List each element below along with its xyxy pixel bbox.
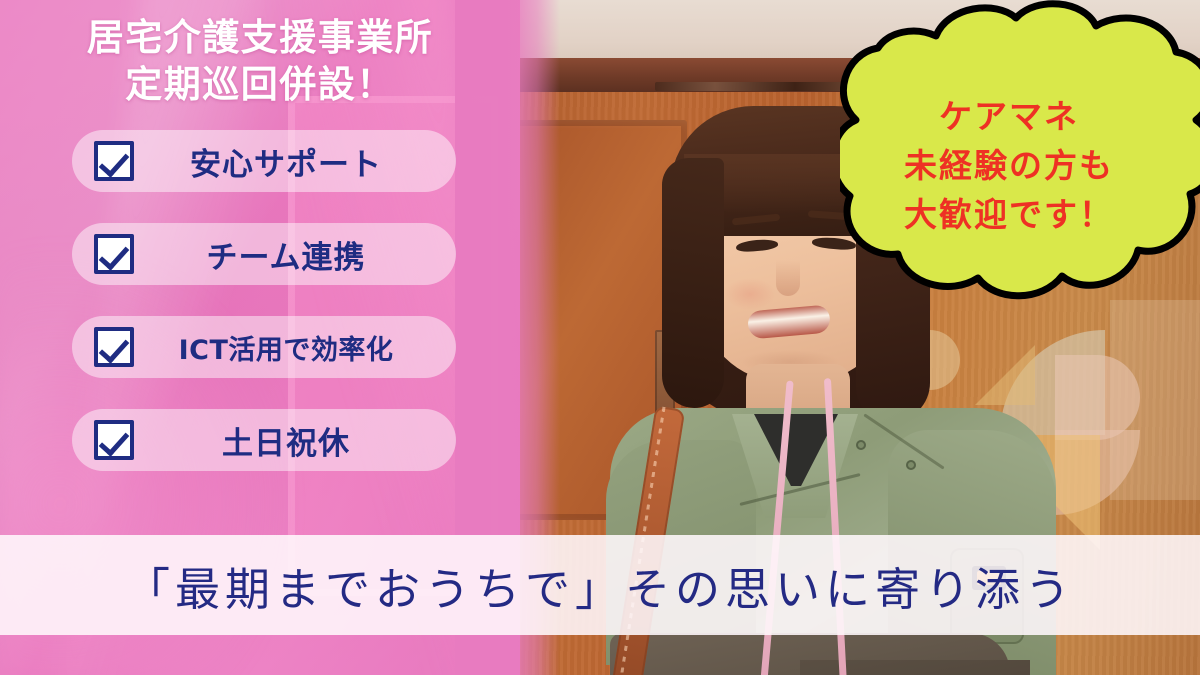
snap-button [856, 440, 866, 450]
cheek [724, 278, 776, 310]
feature-label-1: 安心サポート [134, 139, 456, 184]
tagline-text: 「最期までおうちで」その思いに寄り添う [125, 553, 1075, 618]
speech-bubble: ケアマネ 未経験の方も 大歓迎です！ [840, 0, 1200, 310]
feature-label-4: 土日祝休 [134, 418, 456, 463]
snap-button-2 [906, 460, 916, 470]
checkbox-checked-icon[interactable] [94, 420, 134, 460]
poster-canvas: 居宅介護支援事業所 定期巡回併設！ 安心サポート チーム連携 ICT活用で効率化… [0, 0, 1200, 675]
bubble-line-3: 大歓迎です！ [840, 190, 1178, 239]
headline: 居宅介護支援事業所 定期巡回併設！ [0, 14, 520, 108]
feature-pill-list: 安心サポート チーム連携 ICT活用で効率化 土日祝休 [72, 130, 456, 502]
nose [776, 260, 800, 296]
feature-pill-1[interactable]: 安心サポート [72, 130, 456, 192]
bubble-line-2: 未経験の方も [840, 141, 1178, 190]
feature-pill-2[interactable]: チーム連携 [72, 223, 456, 285]
feature-pill-4[interactable]: 土日祝休 [72, 409, 456, 471]
tagline-banner: 「最期までおうちで」その思いに寄り添う [0, 535, 1200, 635]
decorative-petal-pink [1055, 355, 1140, 440]
bubble-line-1: ケアマネ [840, 92, 1178, 141]
hair-left [662, 158, 724, 408]
checkbox-checked-icon[interactable] [94, 234, 134, 274]
speech-bubble-text: ケアマネ 未経験の方も 大歓迎です！ [840, 92, 1178, 239]
feature-label-2: チーム連携 [134, 232, 456, 277]
headline-line-2: 定期巡回併設！ [0, 61, 520, 108]
apron-lower [800, 660, 1030, 675]
feature-pill-3[interactable]: ICT活用で効率化 [72, 316, 456, 378]
checkbox-checked-icon[interactable] [94, 327, 134, 367]
feature-label-3: ICT活用で効率化 [134, 328, 456, 367]
headline-line-1: 居宅介護支援事業所 [0, 14, 520, 61]
checkbox-checked-icon[interactable] [94, 141, 134, 181]
